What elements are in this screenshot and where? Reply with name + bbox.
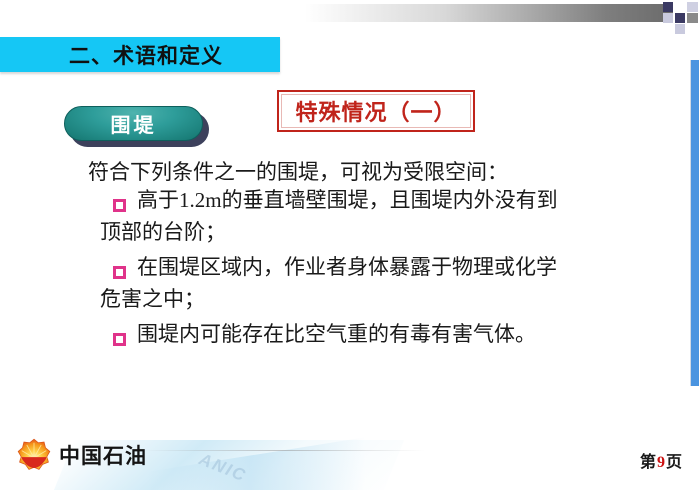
checker-square <box>663 13 673 23</box>
checker-square <box>687 13 698 23</box>
bullet-item-2: 在围堤区域内，作业者身体暴露于物理或化学 <box>78 257 668 279</box>
checker-square <box>675 13 685 23</box>
page-number-suffix: 页 <box>666 454 682 471</box>
slide-canvas: 二、术语和定义 特殊情况（一） 围堤 符合下列条件之一的围堤，可视为受限空间： … <box>0 0 700 490</box>
page-number-value: 9 <box>656 454 666 471</box>
bullet-item-3-line1: 围堤内可能存在比空气重的有毒有害气体。 <box>137 324 536 345</box>
brand-logo: 中国石油 <box>16 437 147 473</box>
bullet-item-1: 高于1.2m的垂直墙壁围堤，且围堤内外没有到 <box>78 190 668 212</box>
page-number: 第9页 <box>640 448 682 472</box>
bullet-item-2-line2: 危害之中； <box>100 289 668 310</box>
checker-square <box>675 2 685 12</box>
square-bullet-icon <box>113 266 126 279</box>
term-badge-pill: 围堤 <box>64 106 203 141</box>
term-badge: 围堤 <box>64 106 209 147</box>
footer-divider-line <box>140 450 425 451</box>
checker-square <box>663 2 673 12</box>
petrochina-emblem-icon <box>16 437 52 473</box>
bullet-item-1-line2: 顶部的台阶； <box>100 222 668 243</box>
checker-square <box>675 24 685 34</box>
term-badge-label: 围堤 <box>111 109 157 138</box>
bullet-item-3: 围堤内可能存在比空气重的有毒有害气体。 <box>78 324 668 346</box>
special-case-note-box: 特殊情况（一） <box>277 90 475 132</box>
special-case-note-text: 特殊情况（一） <box>295 95 456 127</box>
brand-name-text: 中国石油 <box>59 440 147 470</box>
lead-paragraph: 符合下列条件之一的围堤，可视为受限空间： <box>88 162 668 183</box>
bullet-item-1-line1: 高于1.2m的垂直墙壁围堤，且围堤内外没有到 <box>137 190 558 211</box>
section-title-text: 二、术语和定义 <box>43 40 237 70</box>
right-accent-bar <box>690 60 699 386</box>
slide-body: 符合下列条件之一的围堤，可视为受限空间： 高于1.2m的垂直墙壁围堤，且围堤内外… <box>78 162 668 348</box>
section-title-band: 二、术语和定义 <box>0 37 280 72</box>
header-gradient-bar <box>305 4 673 22</box>
square-bullet-icon <box>113 199 126 212</box>
bullet-item-2-line1: 在围堤区域内，作业者身体暴露于物理或化学 <box>137 257 557 278</box>
checker-square <box>687 2 698 12</box>
page-number-prefix: 第 <box>640 454 656 471</box>
square-bullet-icon <box>113 333 126 346</box>
